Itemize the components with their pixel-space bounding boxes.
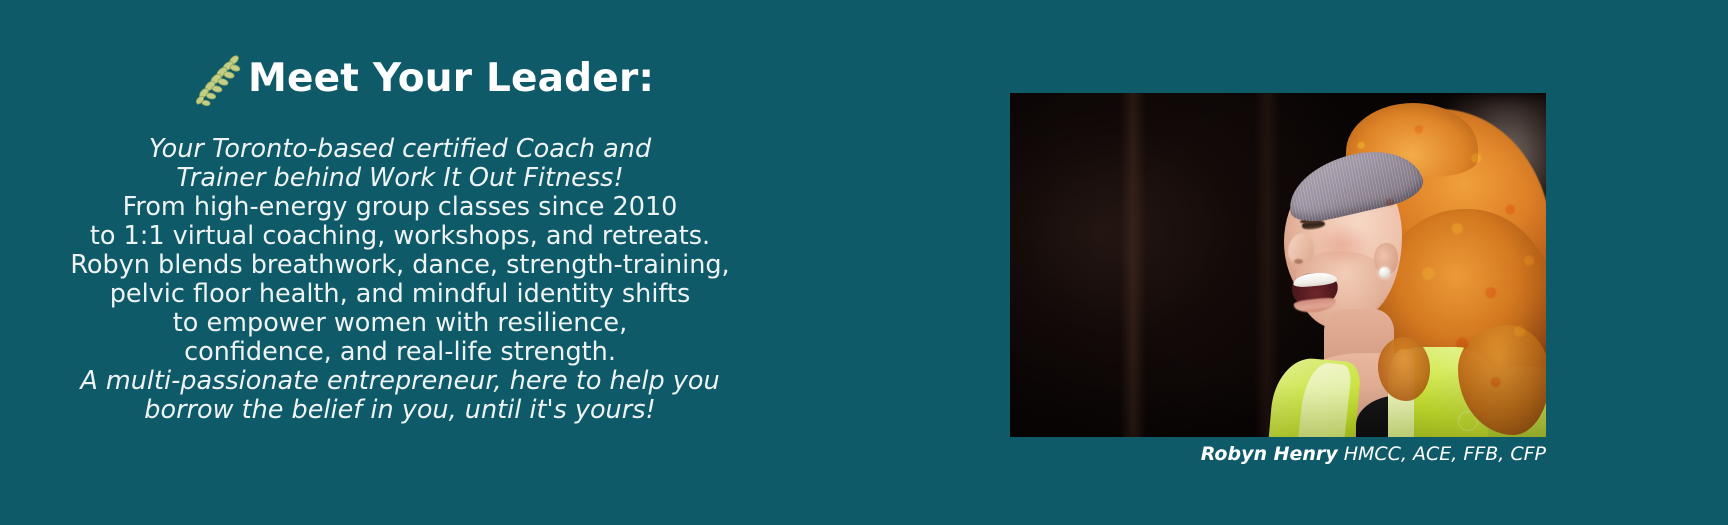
bio-line: pelvic floor health, and mindful identit… [0, 280, 800, 309]
bio-line: to 1:1 virtual coaching, workshops, and … [0, 222, 800, 251]
nostril [1294, 259, 1303, 264]
meet-your-leader-slide: Meet Your Leader: Your Toronto-based cer… [0, 0, 1728, 525]
caption-name: Robyn Henry [1201, 443, 1338, 465]
bio-line: Your Toronto-based certified Coach and [0, 135, 800, 164]
bio-line: A multi-passionate entrepreneur, here to… [0, 367, 800, 396]
person-figure [1262, 101, 1546, 437]
bio-line: confidence, and real-life strength. [0, 338, 800, 367]
bio-line: to empower women with resilience, [0, 309, 800, 338]
leaf-sprig-icon [190, 52, 242, 108]
heading-row: Meet Your Leader: [0, 48, 900, 108]
leader-photo [1010, 93, 1546, 437]
caption-credentials: HMCC, ACE, FFB, CFP [1344, 443, 1546, 465]
backdrop-seam [1120, 93, 1146, 437]
bio-line: Trainer behind Work It Out Fitness! [0, 164, 800, 193]
page-title: Meet Your Leader: [248, 59, 654, 98]
leader-photo-image [1010, 93, 1546, 437]
bio-line: borrow the belief in you, until it's you… [0, 396, 800, 425]
bio-line: Robyn blends breathwork, dance, strength… [0, 251, 800, 280]
left-content-column: Meet Your Leader: Your Toronto-based cer… [0, 0, 900, 525]
bio-line: From high-energy group classes since 201… [0, 193, 800, 222]
bio-paragraph: Your Toronto-based certified Coach andTr… [0, 135, 800, 425]
photo-caption: Robyn Henry HMCC, ACE, FFB, CFP [1010, 443, 1546, 465]
